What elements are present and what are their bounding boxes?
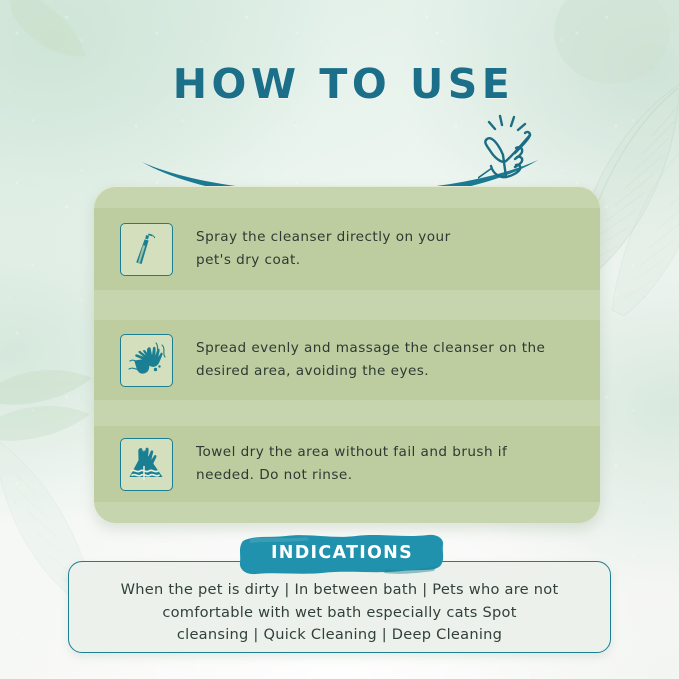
panel-band-2 (94, 290, 600, 320)
indications-badge: INDICATIONS (236, 531, 448, 579)
step-row: Spread evenly and massage the cleanser o… (94, 320, 600, 400)
step-icon-box (120, 438, 173, 491)
indications-badge-label: INDICATIONS (236, 543, 448, 563)
panel-band-3 (94, 400, 600, 426)
step-icon-box (120, 334, 173, 387)
step-text: Spray the cleanser directly on your pet'… (196, 226, 451, 272)
panel-band-4 (94, 502, 600, 523)
step-text: Spread evenly and massage the cleanser o… (196, 337, 545, 383)
step-text: Towel dry the area without fail and brus… (196, 441, 507, 487)
hand-tap-icon (478, 114, 540, 186)
steps-panel: Spray the cleanser directly on your pet'… (94, 186, 600, 523)
massaging-hands-icon (126, 340, 168, 380)
header: HOW TO USE (0, 58, 679, 158)
step-row: Towel dry the area without fail and brus… (94, 426, 600, 502)
page-title: HOW TO USE (0, 58, 679, 110)
indications-text: When the pet is dirty | In between bath … (85, 579, 594, 647)
spray-bottle-icon (127, 229, 167, 269)
towel-drying-icon (126, 444, 168, 484)
infographic-canvas: HOW TO USE (0, 0, 679, 679)
step-row: Spray the cleanser directly on your pet'… (94, 208, 600, 290)
step-icon-box (120, 223, 173, 276)
panel-band-1 (94, 186, 600, 208)
